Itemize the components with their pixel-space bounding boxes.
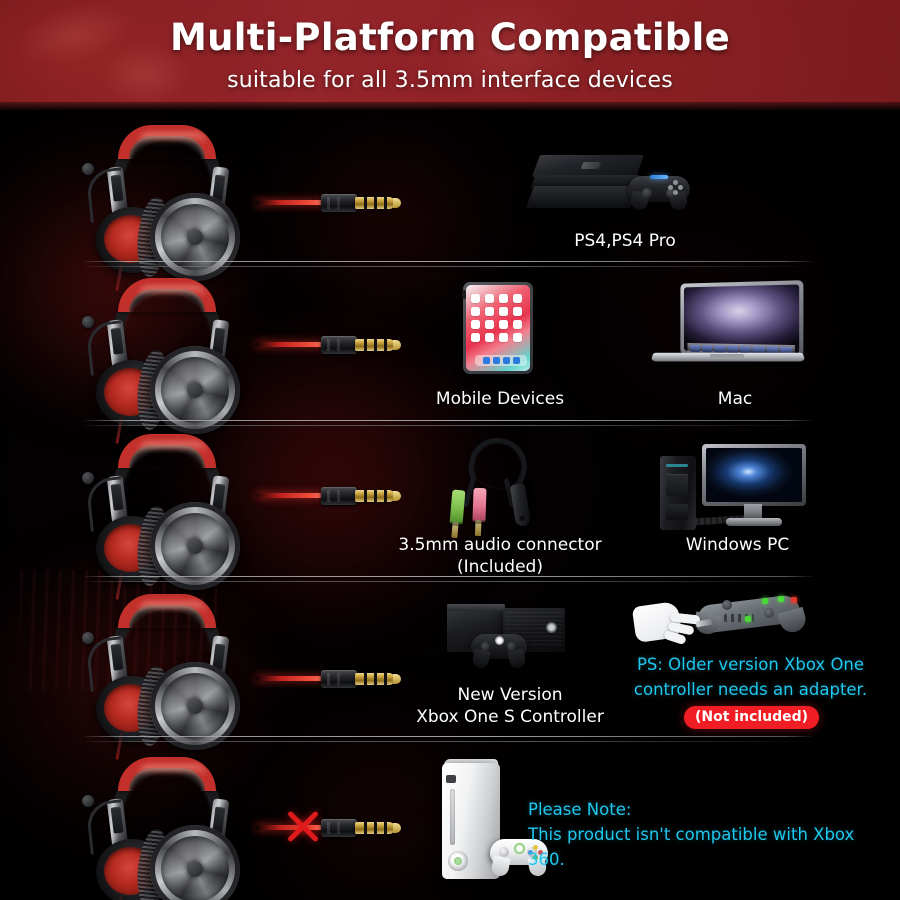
compat-row-windows-pc: 3.5mm audio connector (Included) Windows… [0,428,900,583]
device-caption: Windows PC [640,534,835,556]
compat-row-xbox-360: Please Note: This product isn't compatib… [0,745,900,900]
compat-row-ps4: PS4,PS4 Pro [0,115,900,265]
headset-icon [88,755,258,900]
windows-pc-icon [660,442,810,534]
headset-icon [88,592,258,742]
compat-row-mobile-mac: Mobile Devices Mac [0,270,900,425]
header-banner: Multi-Platform Compatible suitable for a… [0,0,900,110]
hand-with-adapter-icon [632,594,812,656]
page-title: Multi-Platform Compatible [0,16,900,59]
row-separator [85,576,815,577]
compat-row-xbox-one: New Version Xbox One S Controller PS: Ol… [0,586,900,744]
plug-icon [255,666,405,692]
xbox-one-console-icon [447,604,567,676]
adapter-note: PS: Older version Xbox One controller ne… [618,652,883,702]
xbox-one-controller-icon [471,630,527,668]
device-caption: PS4,PS4 Pro [485,230,765,252]
headset-icon [88,432,258,582]
audio-splitter-icon [435,438,555,534]
device-caption: 3.5mm audio connector (Included) [370,534,630,578]
plug-icon [255,332,405,358]
row-separator [85,420,815,421]
plug-icon [255,483,405,509]
device-caption: New Version Xbox One S Controller [390,684,630,728]
row-separator [85,261,815,262]
headset-icon [88,276,258,426]
incompatible-x-icon [283,806,323,846]
product-infographic: Multi-Platform Compatible suitable for a… [0,0,900,900]
device-caption: Mac [640,388,830,410]
headset-icon [88,123,258,273]
row-separator [85,736,815,737]
tablet-icon [463,282,533,374]
device-caption: Mobile Devices [400,388,600,410]
page-subtitle: suitable for all 3.5mm interface devices [0,68,900,93]
xbox-360-note: Please Note: This product isn't compatib… [528,797,888,872]
ps4-controller-icon [628,170,690,210]
macbook-icon [652,282,812,374]
plug-icon [255,190,405,216]
plug-icon [255,815,405,841]
not-included-badge: (Not included) [684,706,819,729]
